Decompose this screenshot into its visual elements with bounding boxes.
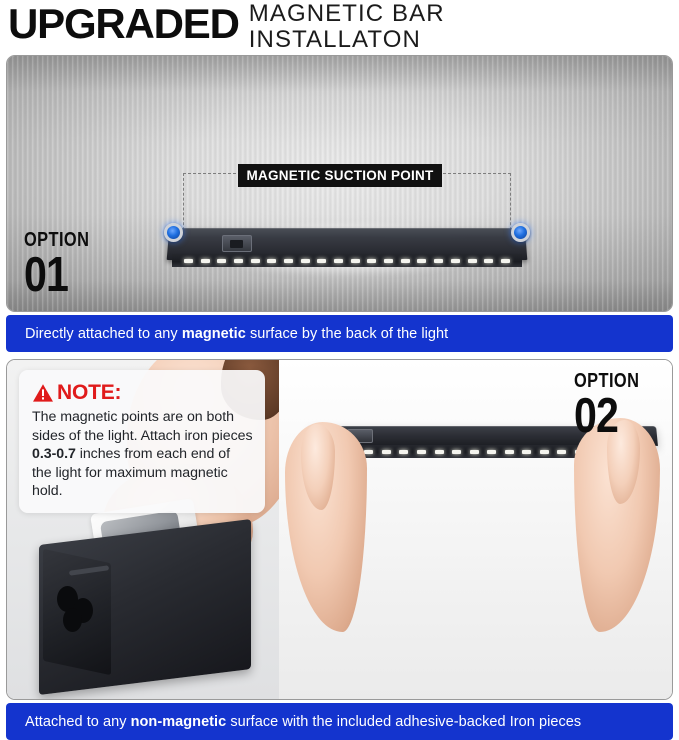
led-dot xyxy=(384,259,393,263)
option-1-caption-text: Directly attached to any magnetic surfac… xyxy=(25,326,448,342)
led-dot xyxy=(417,450,426,454)
led-dot xyxy=(217,259,226,263)
motion-sensor-switch xyxy=(222,235,252,252)
option-2-badge: OPTION 02 xyxy=(574,371,654,440)
note-body: The magnetic points are on both sides of… xyxy=(32,408,253,501)
led-dot xyxy=(468,259,477,263)
led-dot xyxy=(434,259,443,263)
led-dot xyxy=(484,259,493,263)
led-dot xyxy=(401,259,410,263)
magnet-point-right-icon xyxy=(511,223,530,242)
led-dot xyxy=(382,450,391,454)
warning-triangle-icon xyxy=(32,383,54,403)
led-dot xyxy=(234,259,243,263)
magnet-point-left-icon xyxy=(164,223,183,242)
note-header: NOTE: xyxy=(32,381,253,405)
led-dot xyxy=(501,259,510,263)
option-2-number: 02 xyxy=(574,392,641,440)
option-1-panel: MAGNETIC SUCTION POINT xyxy=(6,55,673,312)
option-2-panel: NOTE: The magnetic points are on both si… xyxy=(6,359,673,700)
led-dot xyxy=(399,450,408,454)
led-dot xyxy=(557,450,566,454)
page-title-bold: UPGRADED xyxy=(8,0,239,47)
magnetic-suction-point-label: MAGNETIC SUCTION POINT xyxy=(238,164,442,187)
led-dot xyxy=(284,259,293,263)
led-dot xyxy=(522,450,531,454)
option-1-number: 01 xyxy=(24,251,91,299)
led-dot xyxy=(184,259,193,263)
option-2-caption-bar: Attached to any non-magnetic surface wit… xyxy=(6,703,673,740)
light-bar-magnetic xyxy=(162,221,532,277)
led-dot xyxy=(417,259,426,263)
page-subtitle-line-2: INSTALLATON xyxy=(249,27,445,53)
led-dot xyxy=(317,259,326,263)
led-dot xyxy=(540,450,549,454)
note-callout: NOTE: The magnetic points are on both si… xyxy=(19,370,265,513)
led-dot xyxy=(251,259,260,263)
led-dot xyxy=(367,259,376,263)
led-dot xyxy=(451,259,460,263)
led-dot xyxy=(487,450,496,454)
page-subtitle: MAGNETIC BAR INSTALLATON xyxy=(249,0,445,53)
led-dot xyxy=(301,259,310,263)
led-dot xyxy=(452,450,461,454)
led-dot xyxy=(364,450,373,454)
option-2-caption-text: Attached to any non-magnetic surface wit… xyxy=(25,714,581,730)
option-1-badge: OPTION 01 xyxy=(24,230,104,299)
bar-end-hole xyxy=(63,608,82,632)
led-dot xyxy=(435,450,444,454)
page-header: UPGRADED MAGNETIC BAR INSTALLATON xyxy=(0,0,679,55)
page-subtitle-line-1: MAGNETIC BAR xyxy=(249,1,445,27)
led-dot xyxy=(267,259,276,263)
led-dot xyxy=(334,259,343,263)
led-dot xyxy=(470,450,479,454)
led-dot xyxy=(351,259,360,263)
led-dot xyxy=(505,450,514,454)
led-strip xyxy=(172,254,522,267)
led-dot xyxy=(201,259,210,263)
option-1-caption-bar: Directly attached to any magnetic surfac… xyxy=(6,315,673,352)
note-title: NOTE: xyxy=(57,381,121,405)
